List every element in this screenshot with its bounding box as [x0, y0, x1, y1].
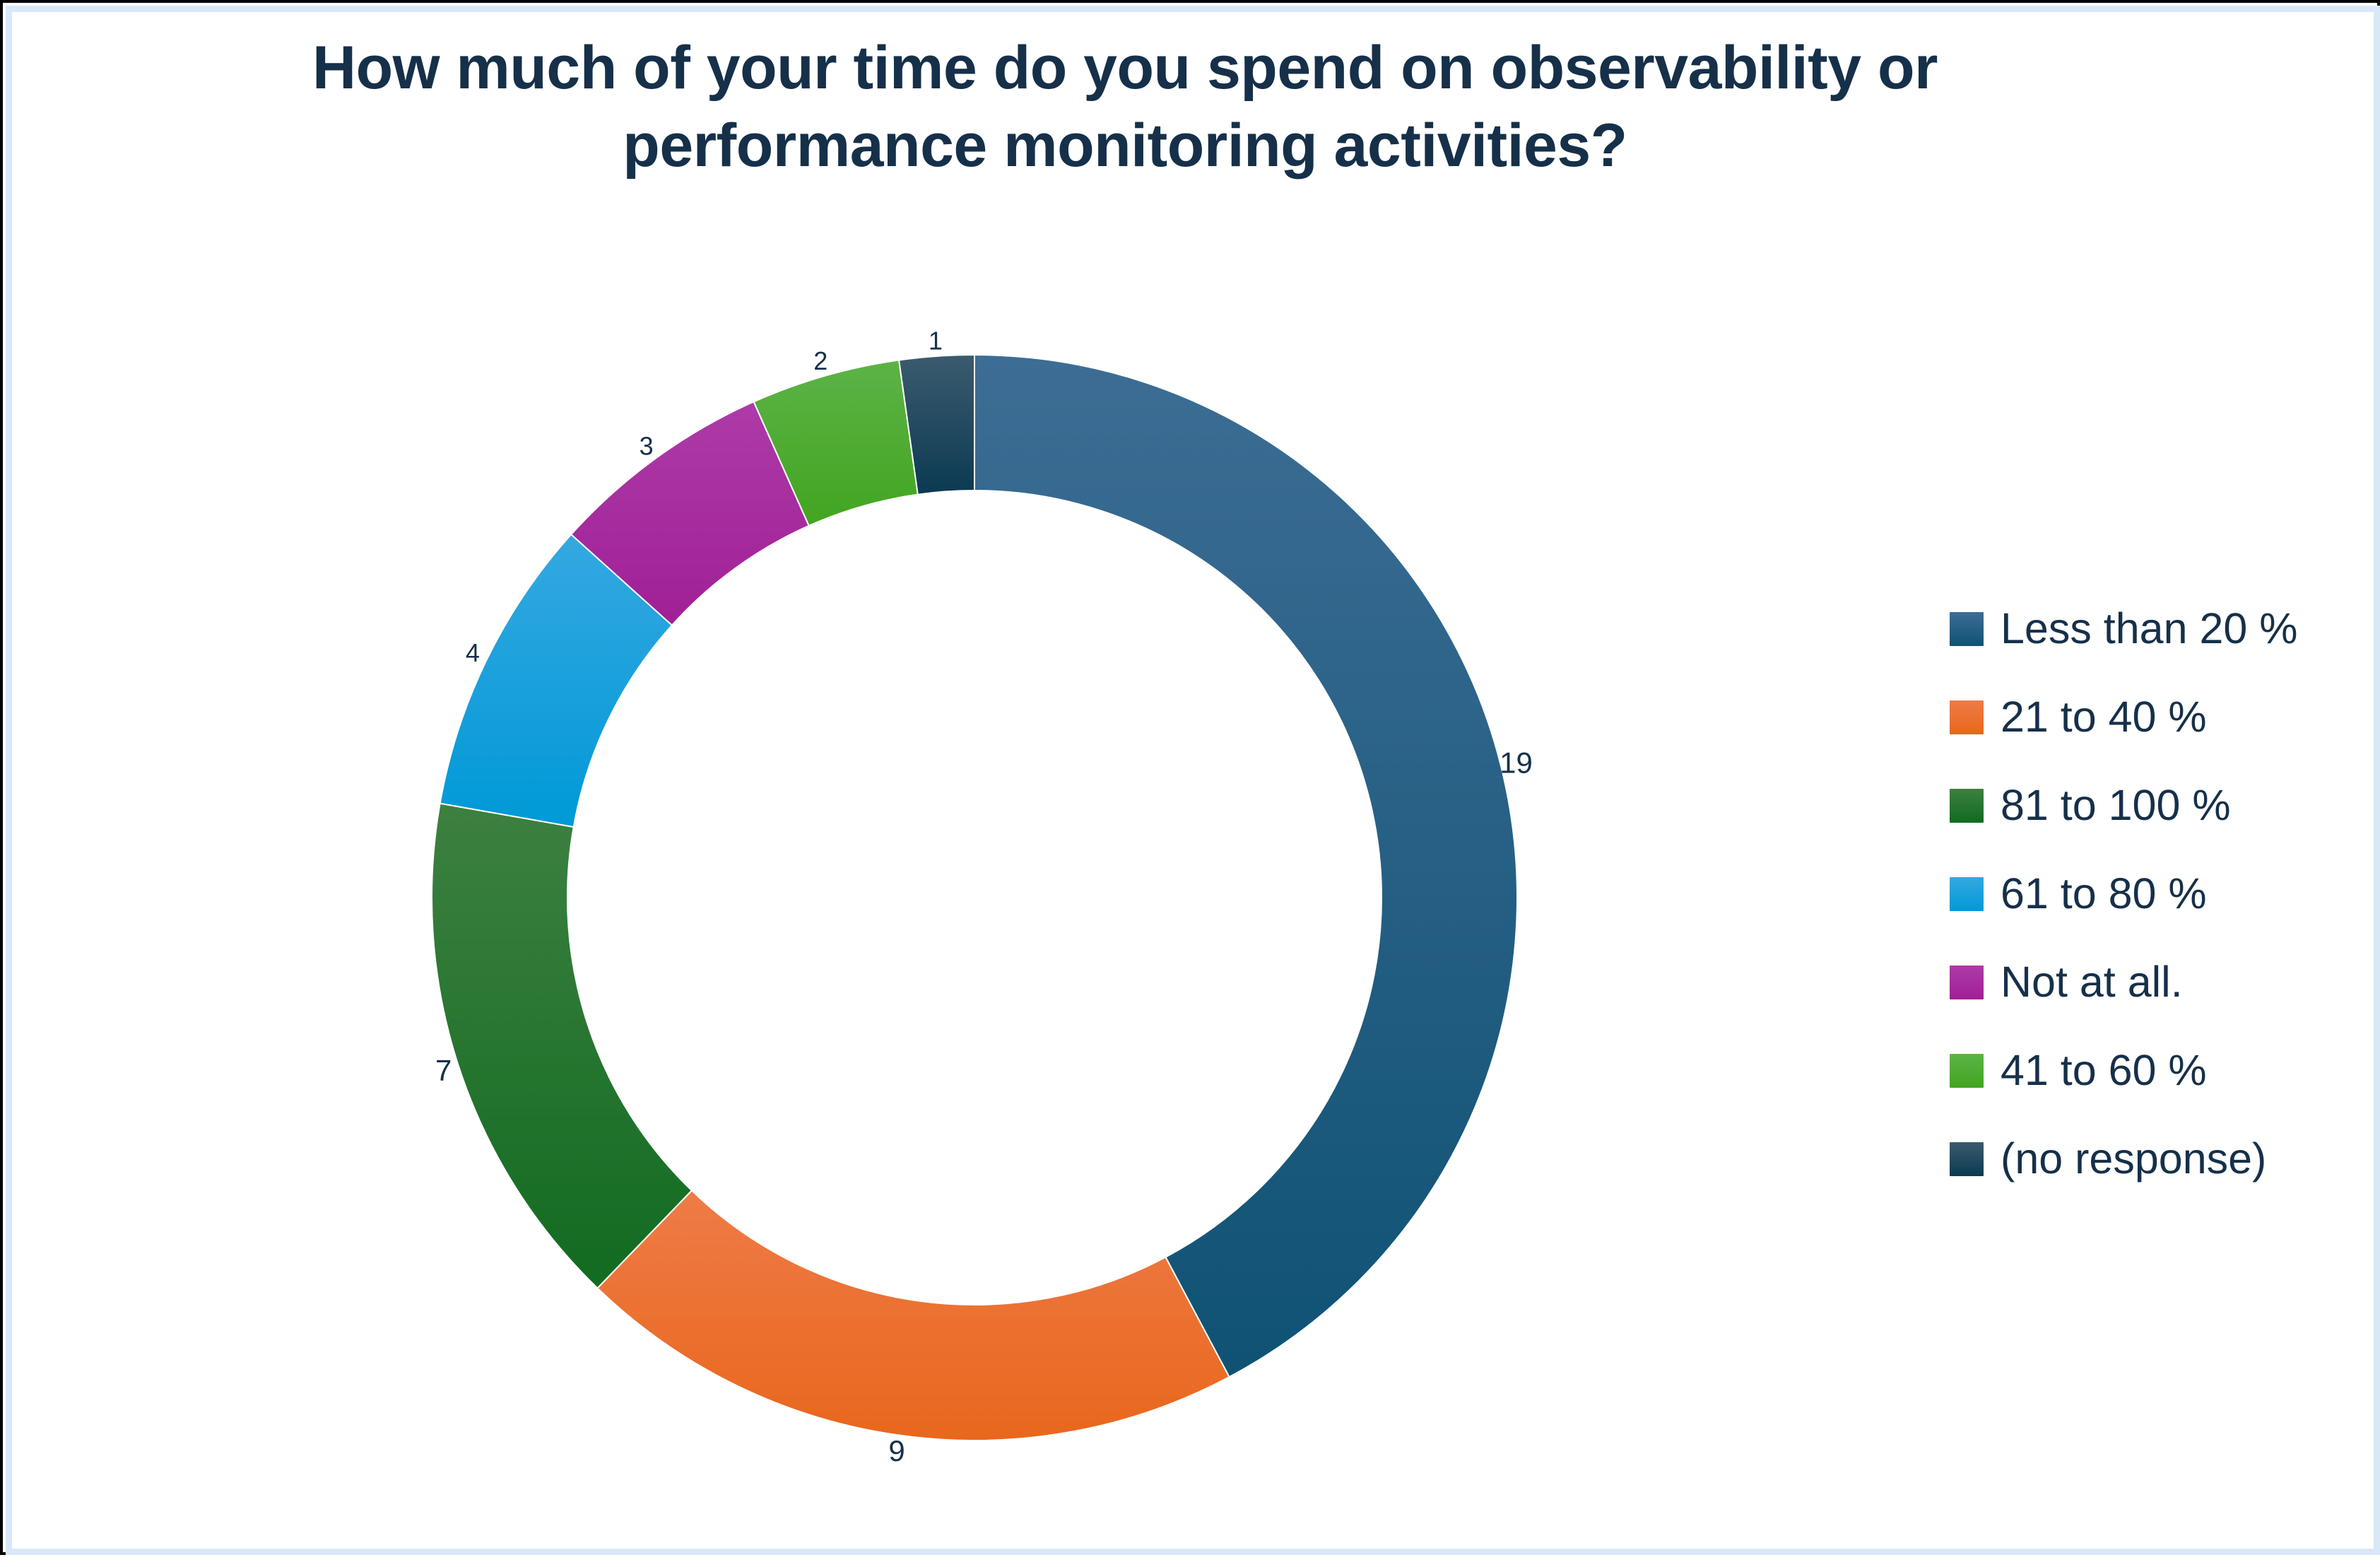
- donut-slice-value-label: 2: [813, 346, 827, 375]
- donut-slice-value-label: 4: [466, 638, 480, 667]
- legend-item[interactable]: Not at all.: [1950, 938, 2374, 1026]
- legend-swatch-icon: [1950, 700, 1984, 734]
- legend-item-label: Less than 20 %: [2001, 607, 2298, 650]
- legend-item-label: 81 to 100 %: [2001, 784, 2231, 827]
- legend-item[interactable]: 21 to 40 %: [1950, 673, 2374, 761]
- legend-swatch-icon: [1950, 612, 1984, 646]
- legend-swatch-icon: [1950, 789, 1984, 823]
- legend-swatch-icon: [1950, 1142, 1984, 1176]
- legend-swatch-icon: [1950, 1054, 1984, 1088]
- chart-legend: Less than 20 %21 to 40 %81 to 100 %61 to…: [1950, 585, 2374, 1203]
- legend-item[interactable]: 41 to 60 %: [1950, 1026, 2374, 1115]
- donut-slice[interactable]: [598, 1190, 1230, 1440]
- legend-item[interactable]: 61 to 80 %: [1950, 850, 2374, 938]
- legend-item-label: (no response): [2001, 1137, 2266, 1180]
- legend-item[interactable]: Less than 20 %: [1950, 585, 2374, 673]
- donut-chart: 19974321: [12, 12, 1920, 1567]
- donut-slice-value-label: 1: [929, 326, 943, 355]
- donut-slice-value-label: 19: [1500, 746, 1533, 779]
- chart-plate: How much of your time do you spend on ob…: [6, 6, 2380, 1555]
- donut-slice-value-label: 7: [435, 1054, 452, 1087]
- donut-slice-value-label: 9: [888, 1434, 905, 1467]
- donut-slice-group: [432, 355, 1517, 1440]
- donut-label-group: 19974321: [435, 326, 1533, 1467]
- donut-slice[interactable]: [974, 355, 1517, 1377]
- legend-swatch-icon: [1950, 966, 1984, 999]
- chart-frame: How much of your time do you spend on ob…: [0, 0, 2380, 1555]
- donut-svg: 19974321: [12, 12, 1920, 1567]
- donut-slice[interactable]: [432, 804, 692, 1289]
- legend-item[interactable]: (no response): [1950, 1115, 2374, 1203]
- donut-slice-value-label: 3: [640, 431, 654, 460]
- legend-item-label: Not at all.: [2001, 961, 2183, 1004]
- legend-item-label: 21 to 40 %: [2001, 696, 2207, 739]
- legend-swatch-icon: [1950, 877, 1984, 911]
- legend-item-label: 41 to 60 %: [2001, 1049, 2207, 1092]
- legend-item-label: 61 to 80 %: [2001, 872, 2207, 915]
- legend-item[interactable]: 81 to 100 %: [1950, 761, 2374, 850]
